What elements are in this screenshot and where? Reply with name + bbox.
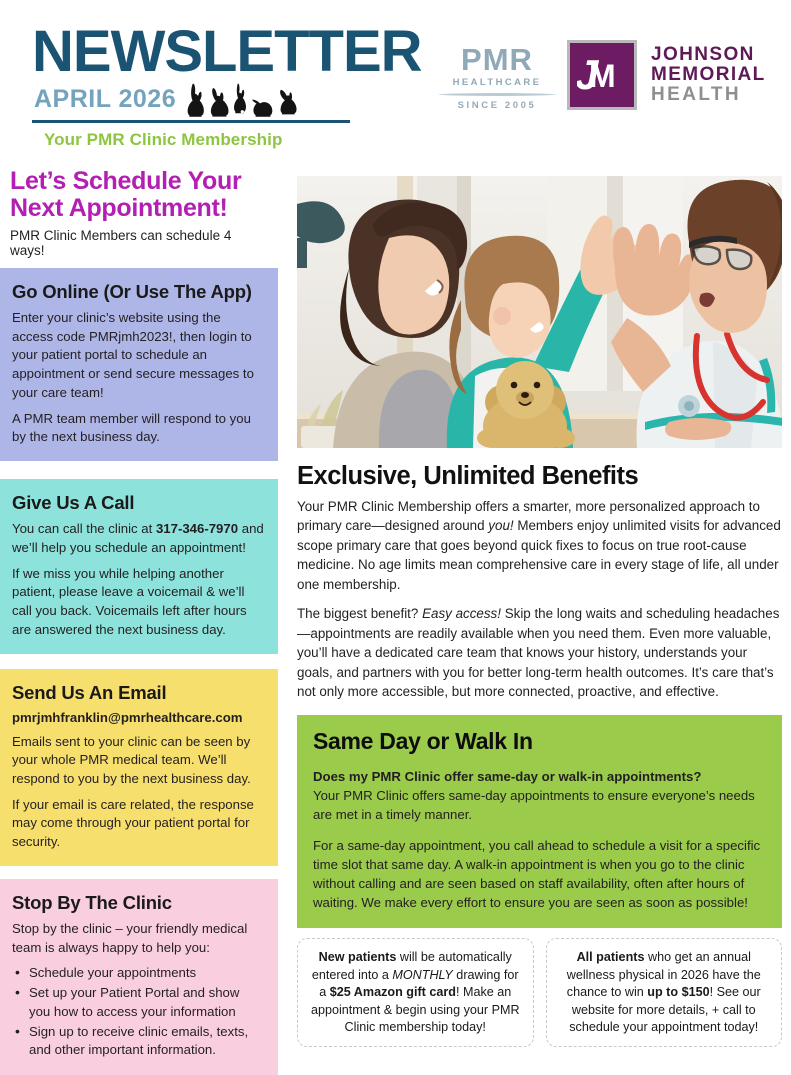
same-day-walk-in-section: Same Day or Walk In Does my PMR Clinic o… xyxy=(297,715,782,928)
masthead-subtitle: Your PMR Clinic Membership xyxy=(44,130,412,150)
panel-stop-by-the-clinic: Stop By The Clinic Stop by the clinic – … xyxy=(0,879,278,1075)
panel-go-online-text-1: Enter your clinic’s website using the ac… xyxy=(12,309,264,403)
issue-date: APRIL 2026 xyxy=(34,85,176,114)
jmh-line-1: JOHNSON xyxy=(651,45,766,65)
panel-call-text-2: If we miss you while helping another pat… xyxy=(12,565,264,640)
clinic-phone-number[interactable]: 317-346-7970 xyxy=(156,521,238,536)
lead-subheadline: PMR Clinic Members can schedule 4 ways! xyxy=(0,222,278,258)
masthead-date-row: APRIL 2026 xyxy=(32,83,350,123)
same-day-heading: Same Day or Walk In xyxy=(313,728,766,755)
pmr-logo-name: PMR xyxy=(437,44,557,75)
panel-heading-call: Give Us A Call xyxy=(12,492,264,514)
panel-go-online-text-2: A PMR team member will respond to you by… xyxy=(12,410,264,447)
clinic-photo xyxy=(297,176,782,448)
promo-new-patients: New patients will be automatically enter… xyxy=(297,938,534,1047)
pmr-logo-divider xyxy=(438,93,556,96)
right-main-column: Exclusive, Unlimited Benefits Your PMR C… xyxy=(297,176,791,1047)
lead-headline: Let’s Schedule Your Next Appointment! xyxy=(0,168,278,222)
jm-monogram-icon: J M xyxy=(567,40,637,110)
pmr-healthcare-logo: PMR HEALTHCARE SINCE 2005 xyxy=(437,44,557,111)
johnson-memorial-health-logo: J M JOHNSON MEMORIAL HEALTH xyxy=(567,40,766,110)
promo-all-patients: All patients who get an annual wellness … xyxy=(546,938,783,1047)
pmr-logo-tagline: HEALTHCARE xyxy=(437,77,557,88)
bunny-icon xyxy=(209,87,230,117)
same-day-detail: For a same-day appointment, you call ahe… xyxy=(313,836,766,912)
bunny-icon xyxy=(187,83,206,117)
benefits-p2-a: The biggest benefit? xyxy=(297,606,422,621)
bunny-icon xyxy=(278,89,298,117)
benefits-heading: Exclusive, Unlimited Benefits xyxy=(297,462,782,491)
clinic-email-address[interactable]: pmrjmhfranklin@pmrhealthcare.com xyxy=(12,710,264,725)
benefits-p2-emphasis: Easy access! xyxy=(422,606,501,621)
list-item: Sign up to receive clinic emails, texts,… xyxy=(12,1023,264,1060)
promo-2-bold-2: up to $150 xyxy=(647,985,709,999)
promo-1-bold-2: $25 Amazon gift card xyxy=(330,985,456,999)
jmh-wordmark: JOHNSON MEMORIAL HEALTH xyxy=(651,45,766,105)
panel-email-text-1: Emails sent to your clinic can be seen b… xyxy=(12,733,264,789)
jmh-line-3: HEALTH xyxy=(651,85,766,105)
panel-send-us-an-email: Send Us An Email pmrjmhfranklin@pmrhealt… xyxy=(0,669,278,866)
clinic-services-list: Schedule your appointments Set up your P… xyxy=(12,964,264,1060)
promo-2-bold-1: All patients xyxy=(577,950,645,964)
exclusive-benefits-section: Exclusive, Unlimited Benefits Your PMR C… xyxy=(297,462,782,701)
bunny-silhouettes xyxy=(187,81,298,117)
benefits-paragraph-1: Your PMR Clinic Membership offers a smar… xyxy=(297,497,782,594)
bunny-icon xyxy=(251,95,275,117)
same-day-answer: Your PMR Clinic offers same-day appointm… xyxy=(313,788,755,822)
list-item: Schedule your appointments xyxy=(12,964,264,983)
list-item: Set up your Patient Portal and show you … xyxy=(12,984,264,1021)
panel-heading-email: Send Us An Email xyxy=(12,682,264,704)
same-day-qa: Does my PMR Clinic offer same-day or wal… xyxy=(313,767,766,824)
promo-1-bold-1: New patients xyxy=(319,950,397,964)
promotion-boxes: New patients will be automatically enter… xyxy=(297,938,782,1047)
panel-give-us-a-call: Give Us A Call You can call the clinic a… xyxy=(0,479,278,653)
pmr-logo-since: SINCE 2005 xyxy=(437,100,557,111)
panel-heading-go-online: Go Online (Or Use The App) xyxy=(12,281,264,303)
panel-go-online: Go Online (Or Use The App) Enter your cl… xyxy=(0,268,278,461)
promo-1-emphasis: MONTHLY xyxy=(392,968,452,982)
newsletter-header: NEWSLETTER APRIL 2026 xyxy=(0,0,791,160)
left-sidebar: Let’s Schedule Your Next Appointment! PM… xyxy=(0,168,278,1075)
panel-email-text-2: If your email is care related, the respo… xyxy=(12,796,264,852)
panel-clinic-text-1: Stop by the clinic – your friendly medic… xyxy=(12,920,264,957)
benefits-paragraph-2: The biggest benefit? Easy access! Skip t… xyxy=(297,604,782,701)
panel-heading-clinic: Stop By The Clinic xyxy=(12,892,264,914)
benefits-p1-emphasis: you! xyxy=(488,518,513,533)
call-text-before: You can call the clinic at xyxy=(12,521,156,536)
bunny-icon xyxy=(233,83,248,117)
svg-text:M: M xyxy=(589,58,616,94)
same-day-question: Does my PMR Clinic offer same-day or wal… xyxy=(313,769,701,784)
jmh-line-2: MEMORIAL xyxy=(651,65,766,85)
masthead: NEWSLETTER APRIL 2026 xyxy=(32,24,412,150)
page-title: NEWSLETTER xyxy=(32,24,412,79)
panel-call-text-1: You can call the clinic at 317-346-7970 … xyxy=(12,520,264,557)
